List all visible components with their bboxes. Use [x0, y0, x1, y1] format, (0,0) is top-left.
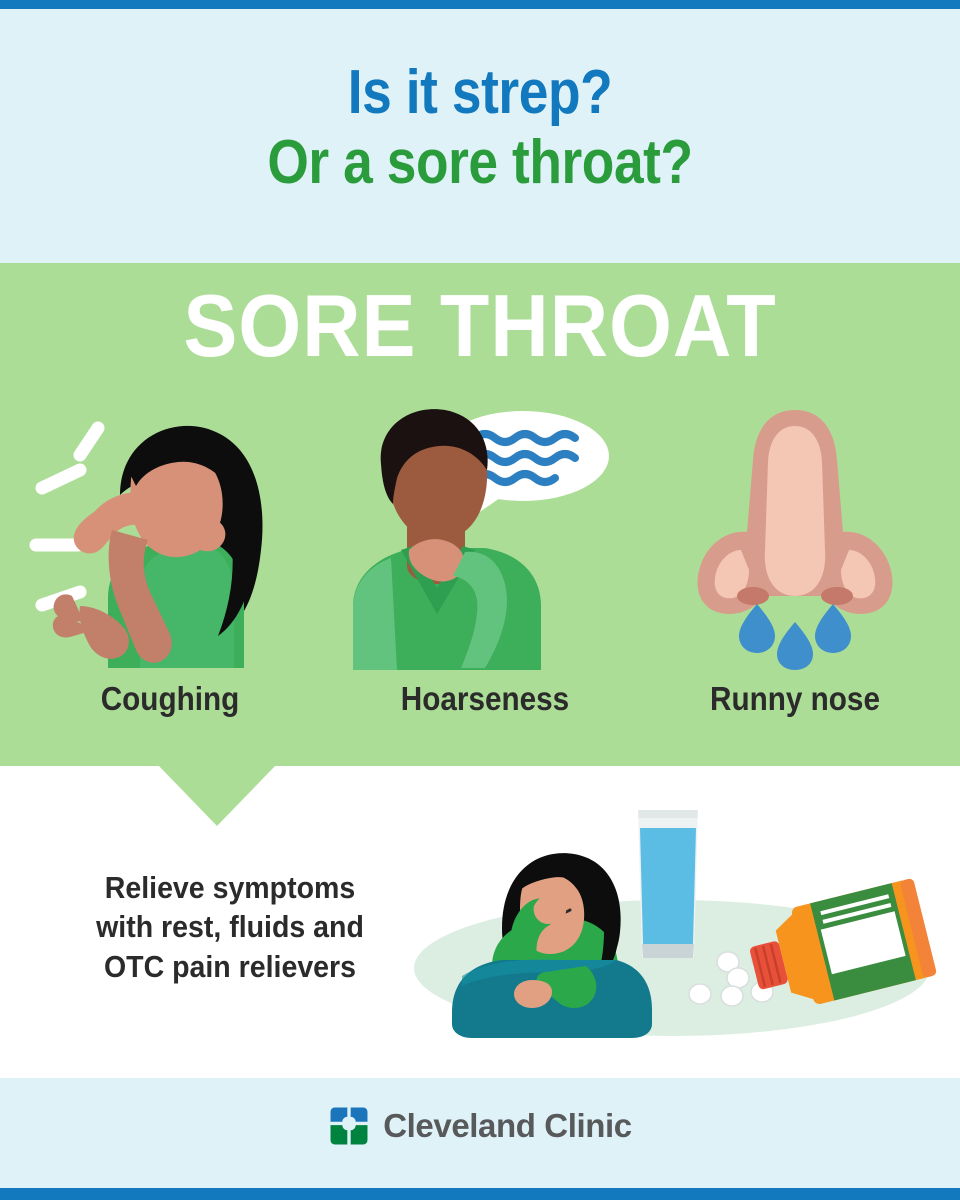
glass-water [640, 828, 696, 944]
nose-with-droplets-icon [645, 400, 945, 670]
band-pointer-notch [158, 765, 276, 826]
brand-name: Cleveland Clinic [383, 1107, 632, 1145]
logo-square-top-right [351, 1108, 368, 1122]
top-accent-bar [0, 0, 960, 9]
advice-line-1: Relieve symptoms [105, 870, 355, 905]
person-holding-throat-speech-bubble-icon [335, 400, 635, 670]
droplet-left [739, 604, 775, 653]
title-line-strep: Is it strep? [67, 62, 893, 124]
brand-lockup: Cleveland Clinic [0, 1105, 960, 1147]
sweater-left-highlight [353, 558, 397, 670]
symptom-item-coughing: Coughing [20, 400, 320, 740]
symptom-label: Runny nose [660, 680, 930, 718]
poster-title: Is it strep? Or a sore throat? [0, 62, 960, 194]
section-heading: SORE THROAT [38, 282, 921, 370]
advice-text: Relieve symptoms with rest, fluids and O… [60, 868, 400, 986]
advice-line-2: with rest, fluids and [96, 909, 364, 944]
cleveland-clinic-logo-icon [328, 1105, 370, 1147]
pill [721, 986, 743, 1006]
nose-bridge [765, 426, 825, 596]
logo-square-bottom-left [331, 1125, 348, 1144]
nostril-left [737, 587, 769, 605]
glass-rim [638, 810, 698, 818]
nostril-right [821, 587, 853, 605]
person-in-bed-water-glass-pills-icon [410, 800, 930, 1050]
person-coughing-into-elbow-icon [20, 400, 320, 670]
droplet-right [815, 604, 851, 653]
logo-square-bottom-right [351, 1125, 368, 1144]
infographic-poster: Is it strep? Or a sore throat? SORE THRO… [0, 0, 960, 1200]
symptom-item-hoarseness: Hoarseness [335, 400, 635, 740]
logo-square-top-left [331, 1108, 348, 1122]
glass-base [642, 944, 694, 958]
symptom-item-runny-nose: Runny nose [645, 400, 945, 740]
pill [689, 984, 711, 1004]
pill [727, 968, 749, 988]
symptom-label: Hoarseness [350, 680, 620, 718]
droplet-center [777, 622, 813, 670]
bottom-accent-bar [0, 1188, 960, 1200]
water-glass [638, 810, 698, 958]
title-line-throat: Or a sore throat? [67, 132, 893, 194]
symptom-label: Coughing [35, 680, 305, 718]
advice-line-3: OTC pain relievers [104, 949, 356, 984]
symptom-list: Coughing [0, 400, 960, 740]
